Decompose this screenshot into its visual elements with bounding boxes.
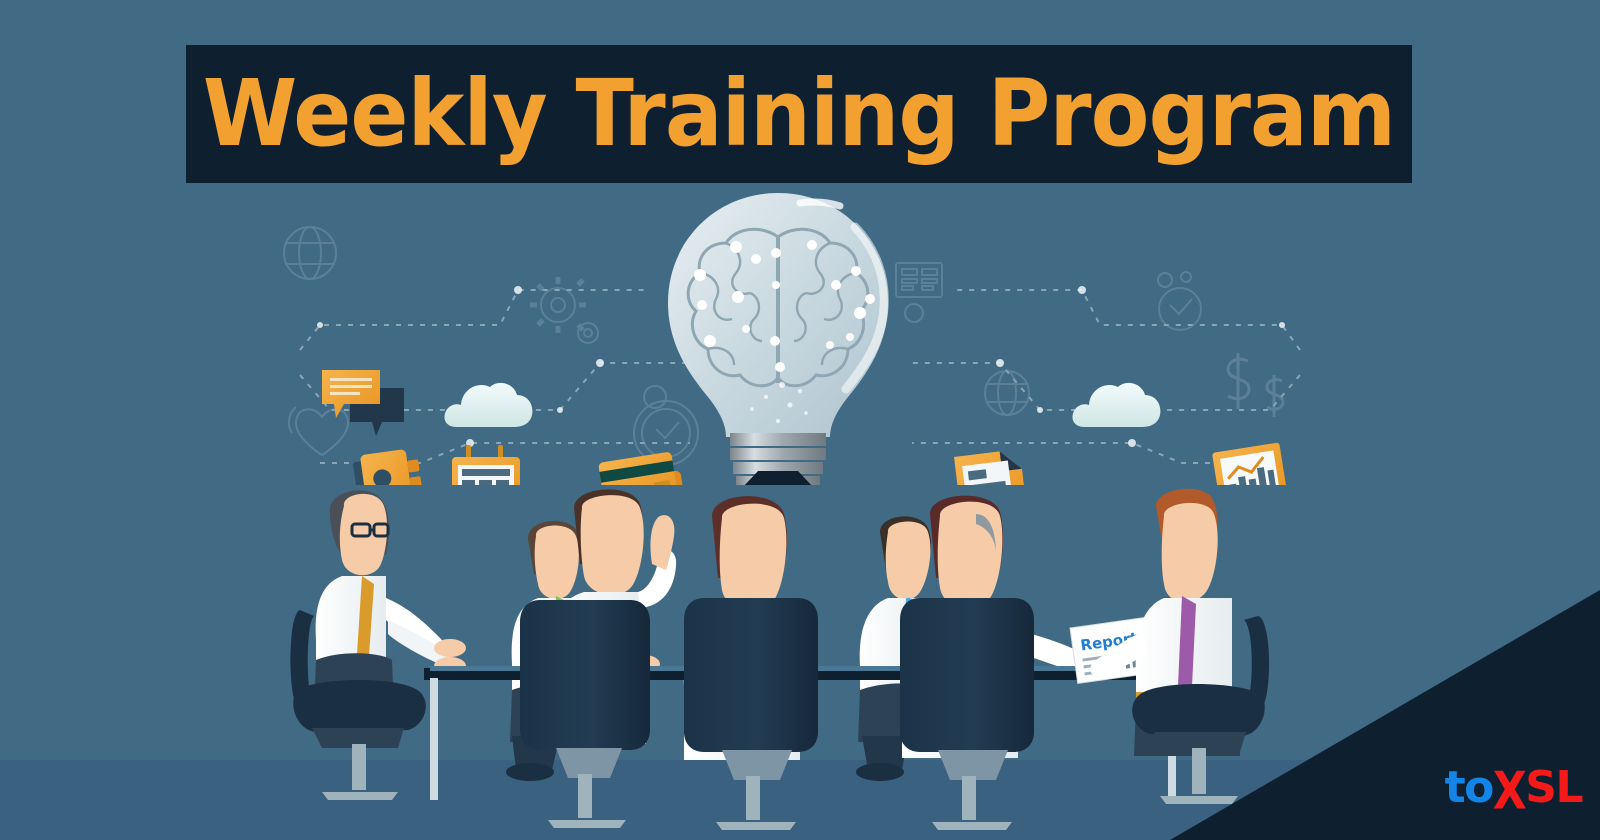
bar-chart-icon (1212, 442, 1289, 485)
bulb-screw-base (730, 433, 826, 485)
poster-canvas: $ (0, 0, 1600, 840)
gears-outline-icon (530, 277, 598, 343)
meeting-chair-near-2 (684, 598, 818, 830)
cards-outline-icon (896, 263, 942, 322)
logo-text-x: X (1493, 766, 1525, 818)
dollar-signs-outline-icon (1228, 353, 1283, 417)
cloud-icon (1072, 383, 1160, 427)
lightbulb-with-brain (668, 193, 888, 485)
globe-outline-icon (985, 371, 1029, 415)
meeting-chair-near-1 (520, 600, 650, 828)
clock-outline-icon (1158, 272, 1201, 330)
heart-outline-icon (289, 407, 348, 455)
concept-icons-illustration: $ (0, 185, 1600, 485)
title-banner: Weekly Training Program (186, 45, 1412, 183)
meeting-chair-near-3 (900, 598, 1034, 830)
page-title: Weekly Training Program (203, 68, 1395, 160)
logo-text-sl: SL (1525, 762, 1582, 813)
cloud-icon (444, 383, 532, 427)
calendar-icon (452, 445, 520, 485)
globe-outline-icon (284, 227, 336, 279)
chat-bubbles-icon (322, 370, 404, 436)
toxsl-logo[interactable]: toXSL (1445, 766, 1582, 810)
logo-text-to: to (1445, 762, 1493, 813)
